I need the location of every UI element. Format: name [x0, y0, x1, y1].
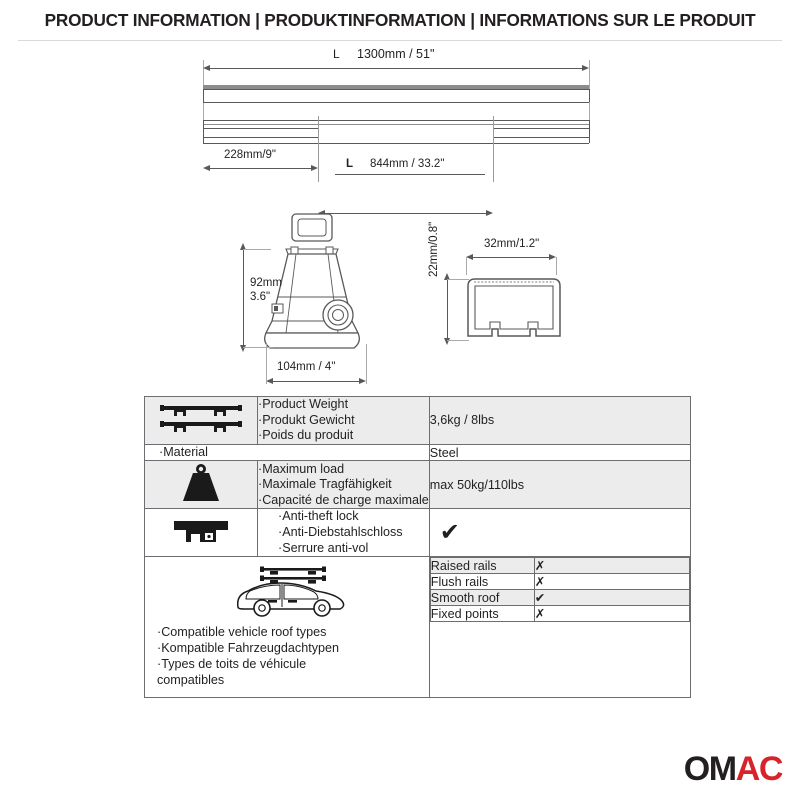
roof-type-name: Smooth roof [430, 590, 534, 606]
sidebar-rail-seg-right-bot [493, 137, 589, 138]
label-line: ·Maximale Tragfähigkeit [258, 477, 429, 493]
max-load-value: max 50kg/110lbs [429, 461, 690, 509]
dim-foot-offset-value: 228mm/9" [224, 149, 276, 161]
roof-types-table: Raised rails ✗ Flush rails ✗ Smooth roof… [430, 557, 690, 622]
label-line: ·Capacité de charge maximale [258, 493, 429, 509]
sidebar-left-cap [203, 120, 204, 143]
label-line: ·Poids du produit [258, 428, 429, 444]
anti-theft-value: ✔ [429, 509, 690, 557]
crossbars-icon [157, 399, 245, 439]
foot-width-ext-left [266, 344, 267, 384]
table-row: ·Maximum load ·Maximale Tragfähigkeit ·C… [145, 461, 691, 509]
weight-icon-cell [145, 461, 258, 509]
roof-types-matrix-cell: Raised rails ✗ Flush rails ✗ Smooth roof… [429, 557, 690, 697]
table-row: ·Product Weight ·Produkt Gewicht ·Poids … [145, 397, 691, 445]
label-line: ·Maximum load [258, 462, 429, 478]
dim-profile-height-value: 22mm/0.8" [428, 222, 440, 277]
profile-cross-section [458, 272, 588, 362]
arrow-right-bar-length [582, 65, 589, 71]
label-line: ·Product Weight [258, 397, 429, 413]
label-line: ·Types de toits de véhicule compatibles [157, 657, 367, 689]
dim-line-foot-offset [205, 168, 316, 169]
foot-width-ext-right [366, 344, 367, 384]
arrow-left-bar-length [203, 65, 210, 71]
specification-table: ·Product Weight ·Produkt Gewicht ·Poids … [144, 396, 691, 698]
roof-type-mark: ✔ [534, 590, 689, 606]
logo-part-ac: AC [736, 750, 782, 788]
foot-height-ext-bottom [243, 347, 273, 348]
arrow-left-foot-offset [203, 165, 210, 171]
sidebar-rail-line-2 [203, 124, 589, 125]
dim-inner-span-value: 844mm / 33.2" [370, 158, 444, 170]
dim-bar-length-symbol: L [333, 47, 340, 61]
roof-type-mark: ✗ [534, 558, 689, 574]
label-line: ·Serrure anti-vol [278, 541, 429, 557]
label-line: ·Anti-Diebstahlschloss [278, 525, 429, 541]
arrow-right-foot-width [359, 378, 366, 384]
anti-theft-labels: ·Anti-theft lock ·Anti-Diebstahlschloss … [258, 509, 430, 557]
crossbar-left-cap [203, 89, 204, 102]
crossbars-icon-cell [145, 397, 258, 445]
dim-foot-height-line2: 3.6" [250, 291, 270, 303]
arrow-right-inner-span [486, 210, 493, 216]
foot-ext-line-right [493, 116, 494, 182]
crossbar-bottom-edge [203, 102, 589, 103]
dim-bar-length-value: 1300mm / 51" [357, 47, 434, 61]
roof-type-name: Fixed points [430, 606, 534, 622]
table-row: ·Material Steel [145, 444, 691, 461]
roof-types-labels-cell: ·Compatible vehicle roof types ·Kompatib… [145, 557, 430, 697]
dim-profile-width-value: 32mm/1.2" [484, 238, 539, 250]
roof-type-row: Fixed points ✗ [430, 606, 689, 622]
logo-part-o: O [684, 750, 709, 788]
arrow-left-profile-width [466, 254, 473, 260]
dim-line-profile-width [468, 257, 554, 258]
car-roof-icon [224, 563, 354, 619]
roof-type-mark: ✗ [534, 574, 689, 590]
table-row: ·Compatible vehicle roof types ·Kompatib… [145, 557, 691, 697]
lock-icon [166, 511, 236, 551]
table-row: ·Anti-theft lock ·Anti-Diebstahlschloss … [145, 509, 691, 557]
material-value: Steel [429, 444, 690, 461]
lock-icon-cell [145, 509, 258, 557]
product-weight-labels: ·Product Weight ·Produkt Gewicht ·Poids … [258, 397, 430, 445]
sidebar-rail-line-1 [203, 120, 589, 121]
arrow-right-foot-offset [311, 165, 318, 171]
sidebar-rail-line-3 [203, 143, 589, 144]
label-line: ·Material [159, 445, 429, 461]
foot-height-ext-top [243, 249, 271, 250]
crossbar-right-cap [589, 89, 590, 102]
dim-underline-inner-span [335, 174, 485, 175]
dim-line-bar-length [205, 68, 587, 69]
arrow-left-foot-width [266, 378, 273, 384]
header-divider [18, 40, 782, 41]
roof-type-row: Smooth roof ✔ [430, 590, 689, 606]
roof-type-row: Flush rails ✗ [430, 574, 689, 590]
foot-ext-line-left [318, 116, 319, 182]
dim-line-profile-height [447, 279, 448, 340]
roof-type-name: Flush rails [430, 574, 534, 590]
max-load-labels: ·Maximum load ·Maximale Tragfähigkeit ·C… [258, 461, 430, 509]
dim-line-foot-height [243, 249, 244, 347]
weight-icon [171, 461, 231, 505]
label-line: ·Produkt Gewicht [258, 413, 429, 429]
label-line: ·Anti-theft lock [278, 509, 429, 525]
crossbar-top-edge [203, 89, 589, 90]
product-weight-value: 3,6kg / 8lbs [429, 397, 690, 445]
sidebar-rail-seg-left-bot [203, 137, 318, 138]
sidebar-rail-seg-right-top [493, 128, 589, 129]
technical-drawing: L 1300mm / 51" 228mm/9" L 844mm / 33.2" [0, 44, 800, 389]
page-title: PRODUCT INFORMATION | PRODUKTINFORMATION… [0, 10, 800, 31]
roof-type-name: Raised rails [430, 558, 534, 574]
material-labels: ·Material [145, 444, 430, 461]
roof-type-row: Raised rails ✗ [430, 558, 689, 574]
label-line: ·Compatible vehicle roof types [157, 625, 421, 641]
foot-front-view [226, 209, 406, 369]
dim-foot-height-line1: 92mm [250, 277, 282, 289]
roof-type-mark: ✗ [534, 606, 689, 622]
dim-line-foot-width [268, 381, 364, 382]
arrow-right-profile-width [549, 254, 556, 260]
dim-inner-span-symbol: L [346, 158, 353, 170]
sidebar-rail-seg-left-top [203, 128, 318, 129]
sidebar-right-cap [589, 120, 590, 143]
dim-foot-width-value: 104mm / 4" [277, 361, 335, 373]
label-line: ·Kompatible Fahrzeugdachtypen [157, 641, 421, 657]
logo-part-m: M [709, 750, 736, 788]
omac-logo: OMAC [684, 752, 782, 786]
